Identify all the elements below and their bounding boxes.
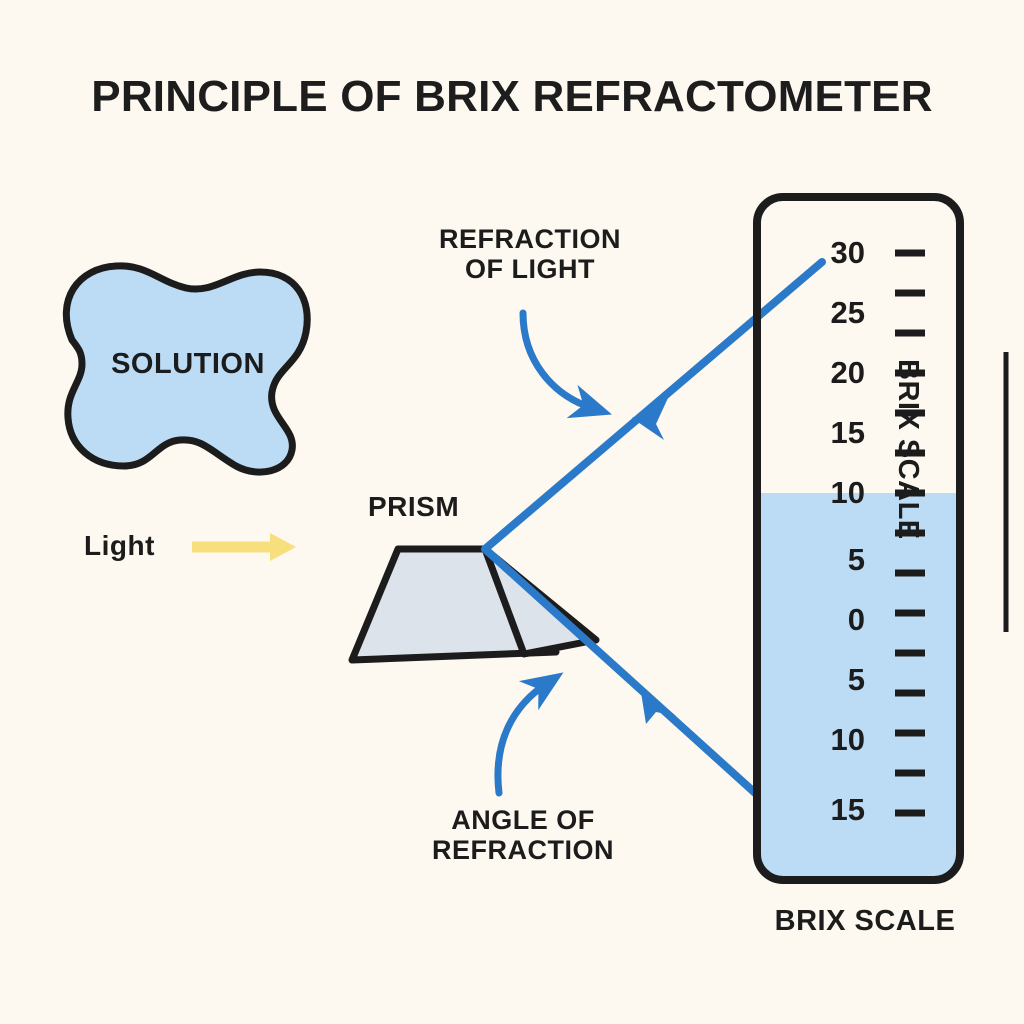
brix-scale-number: 5 — [795, 542, 865, 578]
diagram-canvas: PRINCIPLE OF BRIX REFRACTOMETER SOLUTION… — [0, 0, 1024, 1024]
brix-scale-number: 10 — [795, 722, 865, 758]
brix-scale-side-label: BRIX SCALE — [892, 359, 924, 599]
angle-of-refraction-arrow-icon — [498, 684, 546, 793]
refraction-of-light-label: REFRACTION OF LIGHT — [390, 224, 670, 284]
refraction-of-light-line2: OF LIGHT — [390, 254, 670, 284]
angle-of-refraction-label: ANGLE OF REFRACTION — [382, 805, 664, 865]
diagram-artwork — [0, 0, 1024, 1024]
light-arrow-icon — [192, 533, 296, 561]
brix-scale-number: 15 — [795, 792, 865, 828]
brix-scale-number: 5 — [795, 662, 865, 698]
brix-scale-number: 30 — [795, 235, 865, 271]
brix-scale-number: 10 — [795, 475, 865, 511]
light-label: Light — [84, 530, 155, 561]
brix-scale-number: 0 — [795, 602, 865, 638]
refraction-of-light-line1: REFRACTION — [390, 224, 670, 254]
brix-scale-numbers: 30252015105051015 — [795, 0, 865, 1024]
angle-of-refraction-line2: REFRACTION — [382, 835, 664, 865]
angle-of-refraction-line1: ANGLE OF — [382, 805, 664, 835]
brix-scale-bottom-label: BRIX SCALE — [735, 905, 995, 937]
page-title: PRINCIPLE OF BRIX REFRACTOMETER — [0, 72, 1024, 121]
brix-scale-number: 15 — [795, 415, 865, 451]
refraction-of-light-arrow-icon — [523, 313, 592, 408]
brix-scale-number: 25 — [795, 295, 865, 331]
prism-label: PRISM — [368, 491, 459, 522]
brix-scale-number: 20 — [795, 355, 865, 391]
solution-label: SOLUTION — [78, 348, 298, 380]
